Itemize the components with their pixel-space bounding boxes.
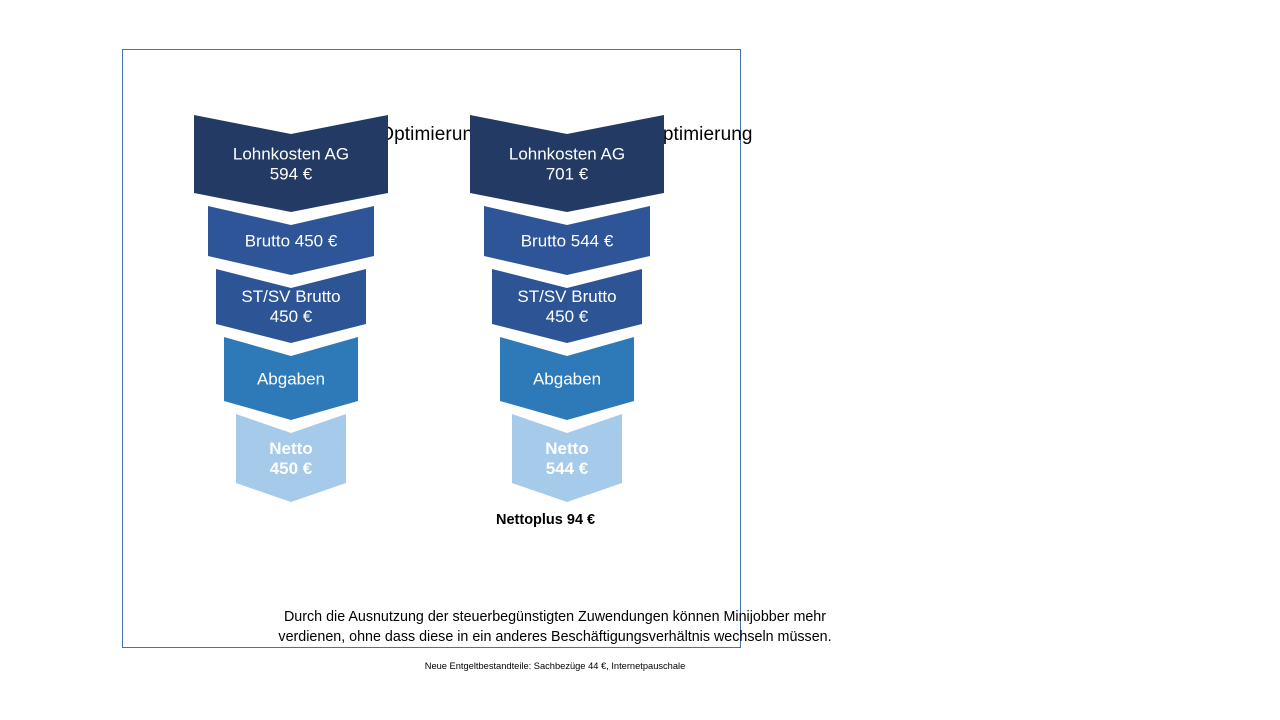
funnel-block-label: 594 € [270, 165, 313, 184]
funnel-block-label: Abgaben [257, 370, 325, 389]
funnel-block-label: 450 € [270, 459, 313, 478]
description-text: Durch die Ausnutzung der steuerbegünstig… [261, 607, 849, 647]
funnel-block-shape-st-sv-brutto [492, 269, 642, 343]
funnel-block-shape-st-sv-brutto [216, 269, 366, 343]
funnel-block-st-sv-brutto: ST/SV Brutto450 € [492, 269, 642, 343]
funnel-block-brutto: Brutto 544 € [484, 206, 650, 275]
funnel-block-label: Abgaben [533, 370, 601, 389]
funnel-chart-ohne-optimierung: Lohnkosten AG594 €Brutto 450 €ST/SV Brut… [180, 108, 410, 528]
funnel-block-label: 450 € [270, 307, 313, 326]
funnel-block-netto: Netto450 € [236, 414, 346, 502]
funnel-block-label: 544 € [546, 459, 589, 478]
funnel-block-label: Netto [269, 439, 312, 458]
funnel-block-label: 701 € [546, 165, 589, 184]
funnel-block-shape-netto [512, 414, 622, 502]
funnel-block-label: Brutto 450 € [245, 232, 338, 251]
footnote-text: Neue Entgeltbestandteile: Sachbezüge 44 … [261, 661, 849, 671]
description-line-2: verdienen, ohne dass diese in ein andere… [278, 629, 831, 645]
funnel-block-abgaben: Abgaben [500, 337, 634, 420]
funnel-block-shape-netto [236, 414, 346, 502]
funnel-block-label: Lohnkosten AG [233, 145, 349, 164]
funnel-block-shape-lohnkosten-ag [470, 115, 664, 212]
funnel-block-label: ST/SV Brutto [517, 287, 616, 306]
slide-canvas: Ohne Optimierung Mit Optimierung Nettopl… [0, 0, 1280, 720]
funnel-block-netto: Netto544 € [512, 414, 622, 502]
funnel-chart-mit-optimierung: Lohnkosten AG701 €Brutto 544 €ST/SV Brut… [456, 108, 686, 528]
funnel-block-label: Lohnkosten AG [509, 145, 625, 164]
funnel-block-label: Netto [545, 439, 588, 458]
funnel-block-lohnkosten-ag: Lohnkosten AG701 € [470, 115, 664, 212]
funnel-block-lohnkosten-ag: Lohnkosten AG594 € [194, 115, 388, 212]
funnel-block-label: 450 € [546, 307, 589, 326]
funnel-block-shape-lohnkosten-ag [194, 115, 388, 212]
funnel-block-abgaben: Abgaben [224, 337, 358, 420]
funnel-block-label: ST/SV Brutto [241, 287, 340, 306]
funnel-block-label: Brutto 544 € [521, 232, 614, 251]
description-line-1: Durch die Ausnutzung der steuerbegünstig… [284, 609, 826, 625]
funnel-block-st-sv-brutto: ST/SV Brutto450 € [216, 269, 366, 343]
funnel-block-brutto: Brutto 450 € [208, 206, 374, 275]
